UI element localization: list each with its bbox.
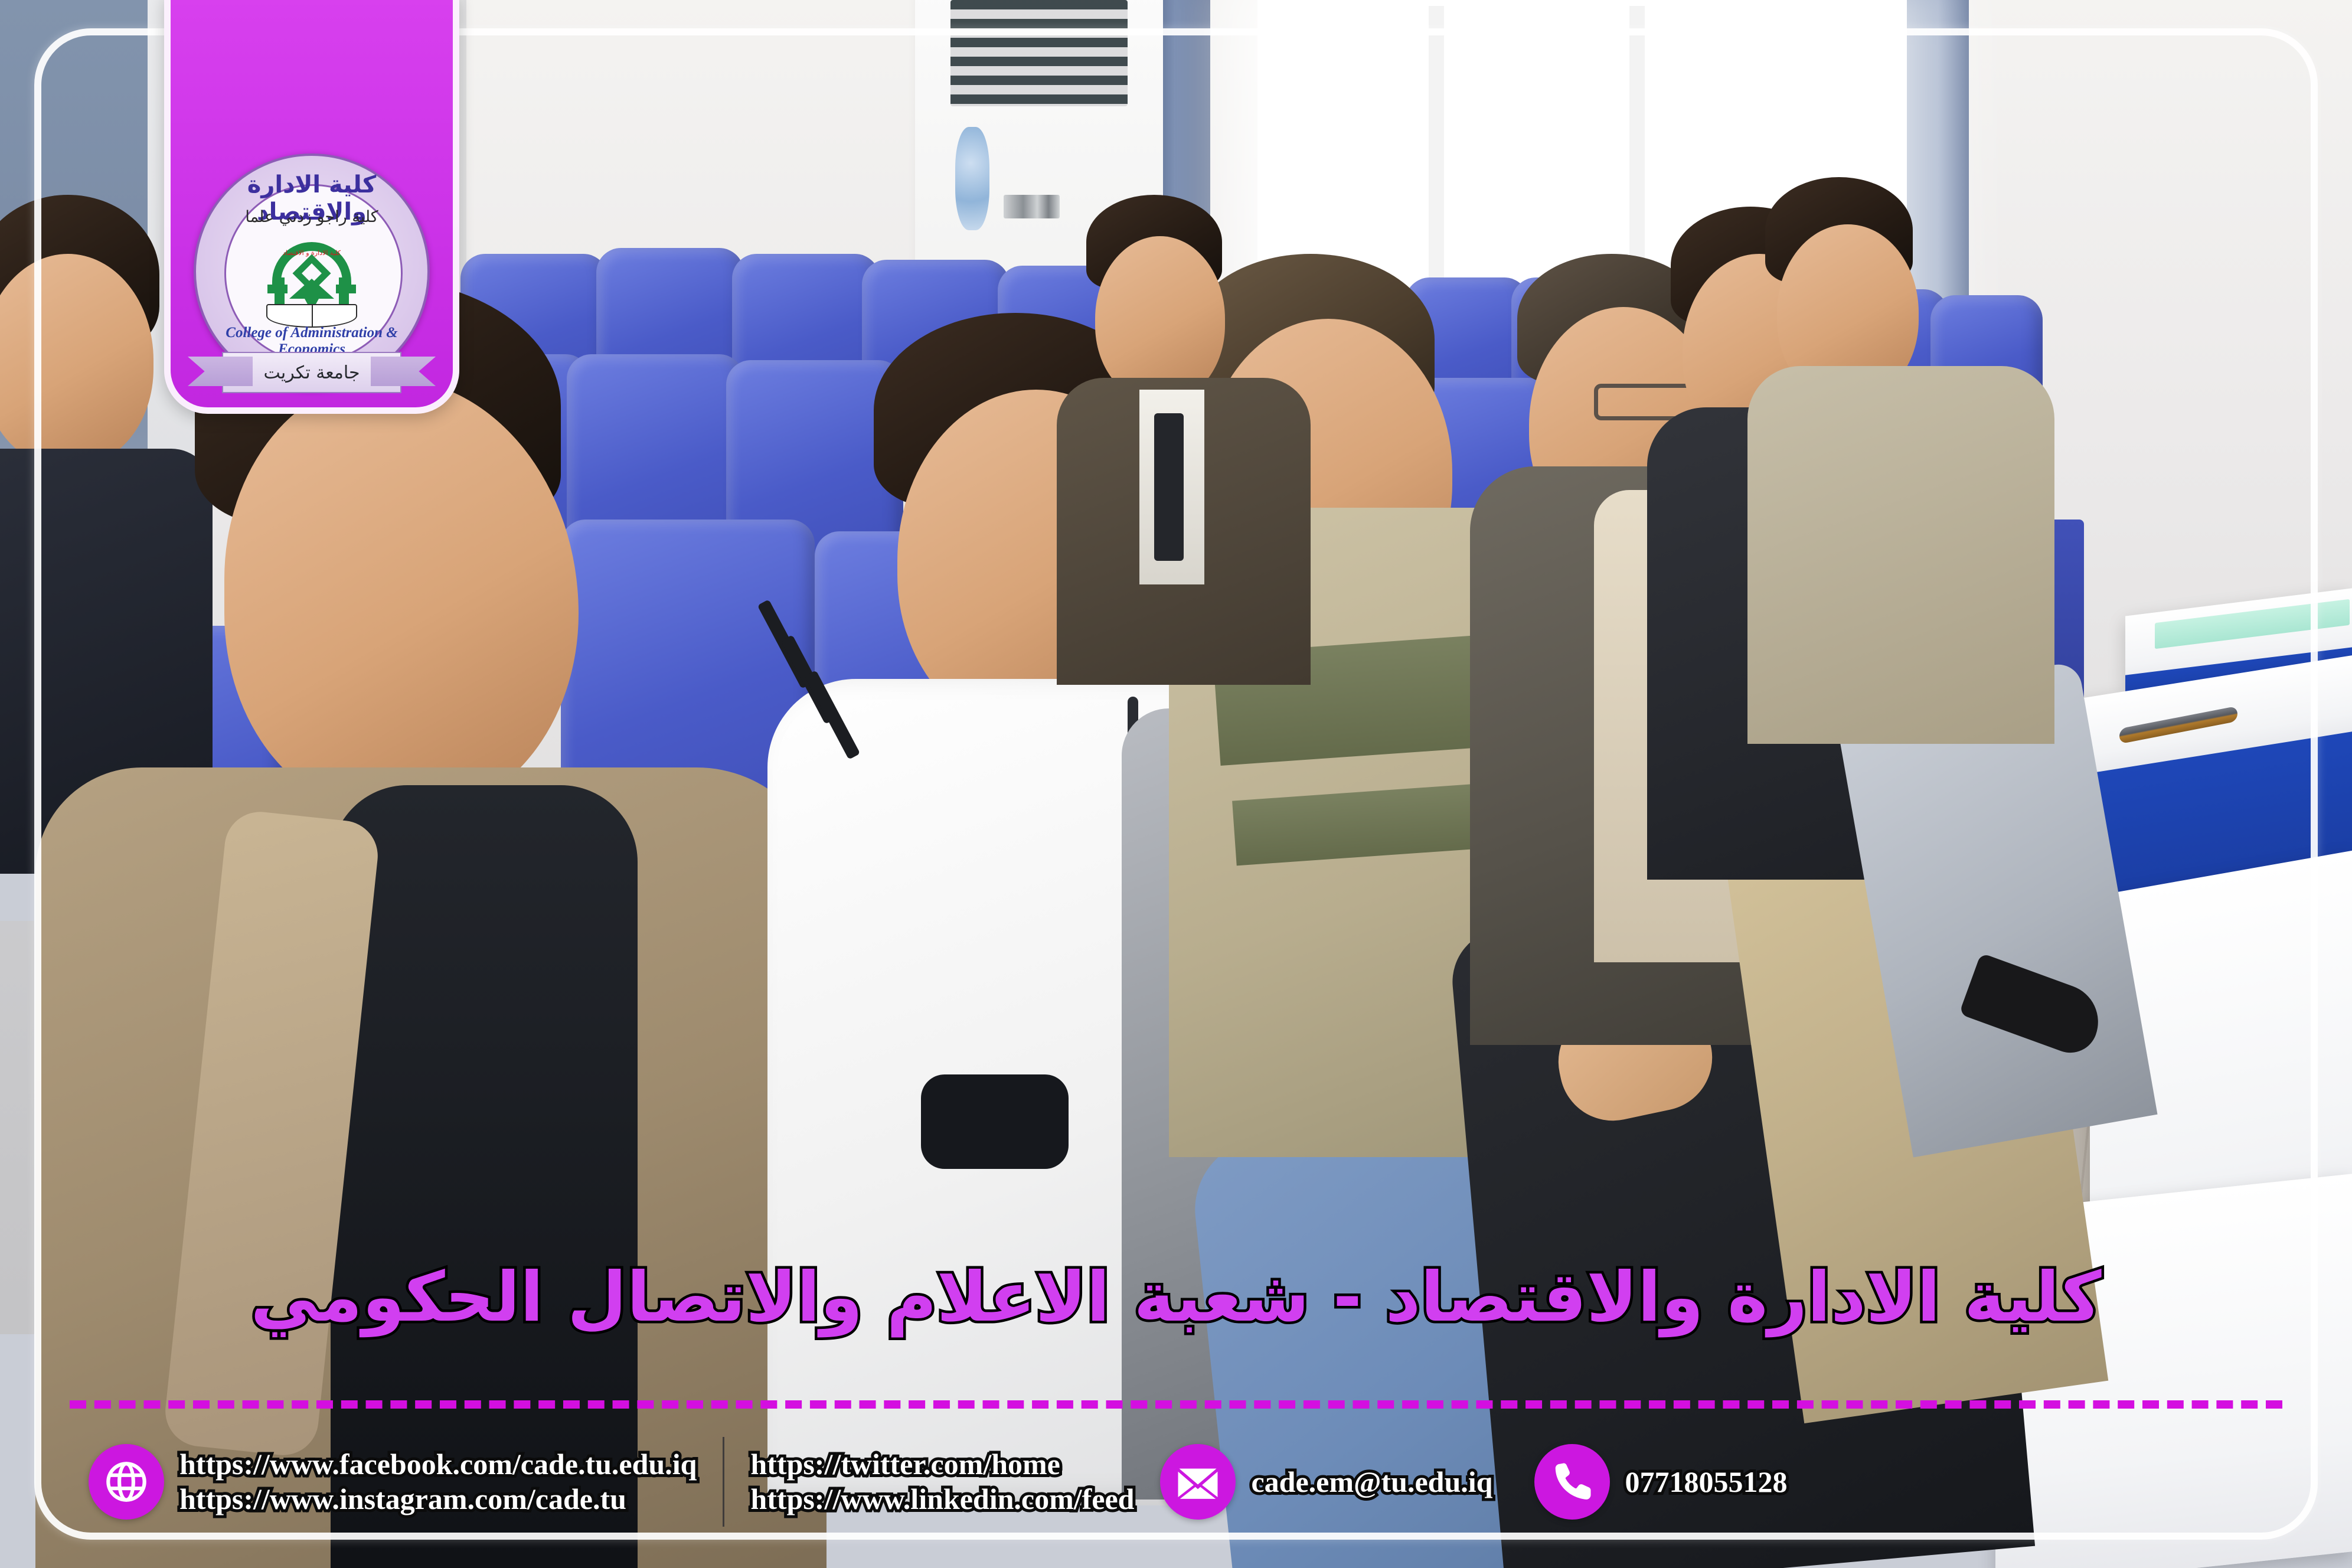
contact-footer: https://www.facebook.com/cade.tu.edu.iq … (0, 1417, 2352, 1547)
dashed-divider (70, 1400, 2282, 1409)
emblem-wing-right (336, 285, 356, 293)
seal-emblem-icon: كلية الادارة و الاقتصاد (262, 242, 362, 328)
web-links: https://www.facebook.com/cade.tu.edu.iq … (179, 1449, 697, 1514)
contact-group-email[interactable]: cade.em@tu.edu.iq (1160, 1444, 1492, 1520)
air-conditioner-vent (950, 0, 1128, 106)
globe-icon[interactable] (89, 1444, 164, 1520)
social-links: https://twitter.com/home https://www.lin… (750, 1449, 1134, 1514)
ribbon-tail-right (371, 357, 436, 386)
envelope-icon[interactable] (1160, 1444, 1236, 1520)
ribbon-text: جامعة تكريت (263, 362, 360, 383)
instagram-url[interactable]: https://www.instagram.com/cade.tu (179, 1484, 697, 1514)
seal-ribbon: جامعة تكريت (222, 352, 401, 393)
ribbon-tail-left (188, 357, 253, 386)
poster-canvas: كلية الادارة والاقتصاد كلية راجو زدني عل… (0, 0, 2352, 1568)
contact-group-social[interactable]: https://twitter.com/home https://www.lin… (750, 1449, 1134, 1514)
college-seal: كلية الادارة والاقتصاد كلية راجو زدني عل… (194, 153, 430, 390)
air-conditioner-display (1004, 195, 1060, 218)
email-address[interactable]: cade.em@tu.edu.iq (1251, 1467, 1492, 1497)
linkedin-url[interactable]: https://www.linkedin.com/feed (750, 1484, 1134, 1514)
phone-icon[interactable] (1534, 1444, 1610, 1520)
emblem-open-book (266, 304, 357, 328)
email-lines: cade.em@tu.edu.iq (1251, 1467, 1492, 1497)
emblem-wing-left (267, 285, 288, 293)
twitter-url[interactable]: https://twitter.com/home (750, 1449, 1134, 1479)
poster-headline: كلية الادارة والاقتصاد - شعبة الاعلام وا… (94, 1260, 2258, 1334)
contact-group-web[interactable]: https://www.facebook.com/cade.tu.edu.iq … (89, 1444, 697, 1520)
footer-separator (723, 1437, 724, 1527)
facebook-url[interactable]: https://www.facebook.com/cade.tu.edu.iq (179, 1449, 697, 1479)
emblem-chevron (289, 279, 334, 299)
college-logo-banner: كلية الادارة والاقتصاد كلية راجو زدني عل… (164, 0, 459, 414)
contact-group-phone[interactable]: 07718055128 (1534, 1444, 1788, 1520)
phone-number[interactable]: 07718055128 (1625, 1467, 1788, 1497)
seal-arabic-subtitle: كلية راجو زدني علما (194, 208, 430, 226)
phone-lines: 07718055128 (1625, 1467, 1788, 1497)
air-conditioner-logo (955, 127, 989, 230)
